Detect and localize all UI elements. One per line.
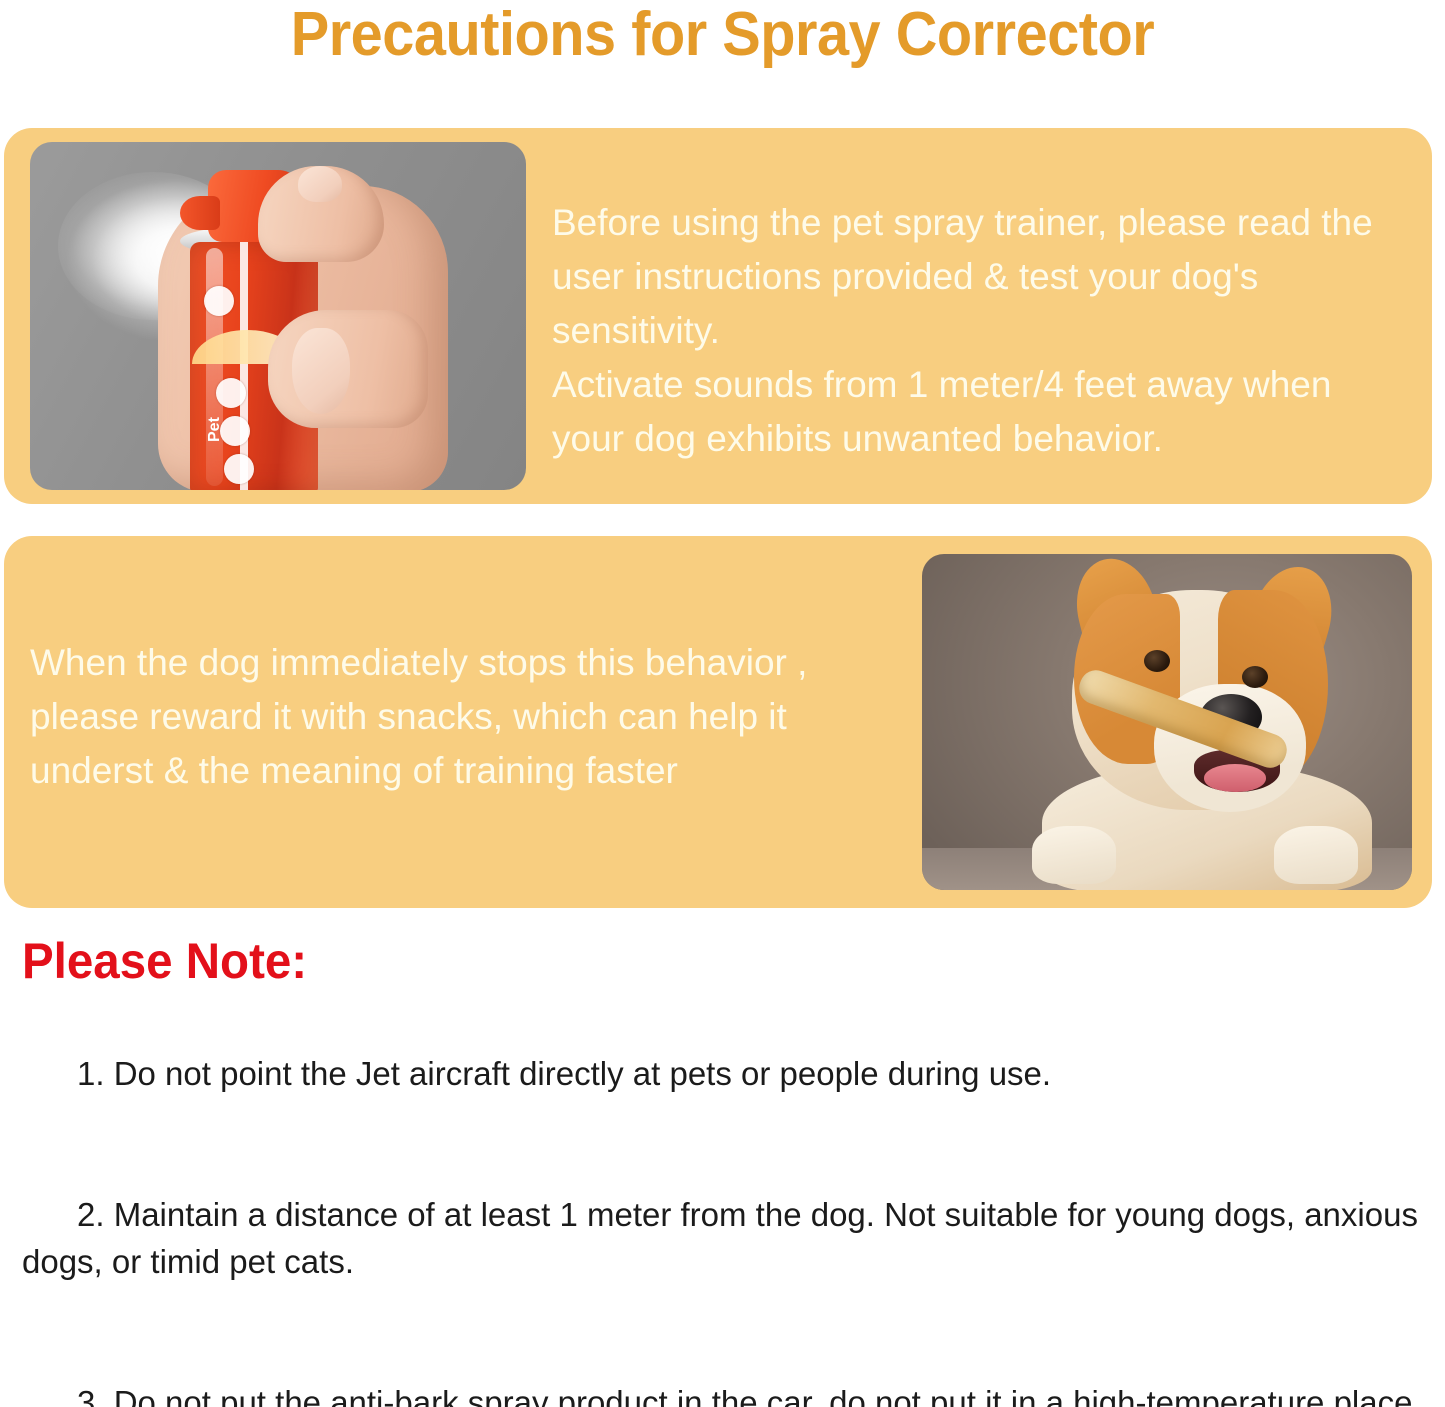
spray-nozzle-tip	[180, 196, 220, 230]
panel-2-text: When the dog immediately stops this beha…	[30, 636, 890, 798]
dog-eye-left	[1144, 650, 1170, 672]
note-item-2-text: 2. Maintain a distance of at least 1 met…	[22, 1196, 1427, 1280]
dog-paw-left	[1032, 826, 1116, 884]
dog-paw-right	[1274, 826, 1358, 884]
can-brand-word: Pet	[206, 417, 224, 442]
precaution-panel-1: Pet Before using the pet spray trainer, …	[4, 128, 1432, 504]
no-puncture-icon	[224, 454, 254, 484]
can-white-stripe	[240, 242, 248, 490]
precaution-panel-2: When the dog immediately stops this beha…	[4, 536, 1432, 908]
can-gloss-highlight	[206, 248, 223, 486]
dog-tongue	[1204, 764, 1266, 792]
note-item-1-text: 1. Do not point the Jet aircraft directl…	[77, 1055, 1051, 1092]
note-item-1: 1. Do not point the Jet aircraft directl…	[22, 1003, 1432, 1144]
note-item-2: 2. Maintain a distance of at least 1 met…	[22, 1144, 1432, 1332]
index-finger-nail	[292, 328, 350, 414]
corgi-dog-with-chew-photo	[922, 554, 1412, 890]
infographic-page: Precautions for Spray Corrector Pet	[0, 0, 1445, 1407]
panel-1-text: Before using the pet spray trainer, plea…	[552, 196, 1412, 466]
dog-eye-right	[1242, 666, 1268, 688]
thumb-nail	[298, 166, 342, 202]
note-item-3: 3. Do not put the anti-bark spray produc…	[22, 1332, 1432, 1407]
page-title: Precautions for Spray Corrector	[51, 2, 1395, 68]
hand-holding-spray-can-photo: Pet	[30, 142, 526, 490]
no-flame-icon	[220, 416, 250, 446]
please-note-heading: Please Note:	[22, 934, 307, 988]
warning-badge-icon	[204, 286, 234, 316]
no-spray-face-icon	[216, 378, 246, 408]
note-list: 1. Do not point the Jet aircraft directl…	[22, 1003, 1432, 1407]
note-item-3-text: 3. Do not put the anti-bark spray produc…	[22, 1384, 1422, 1407]
